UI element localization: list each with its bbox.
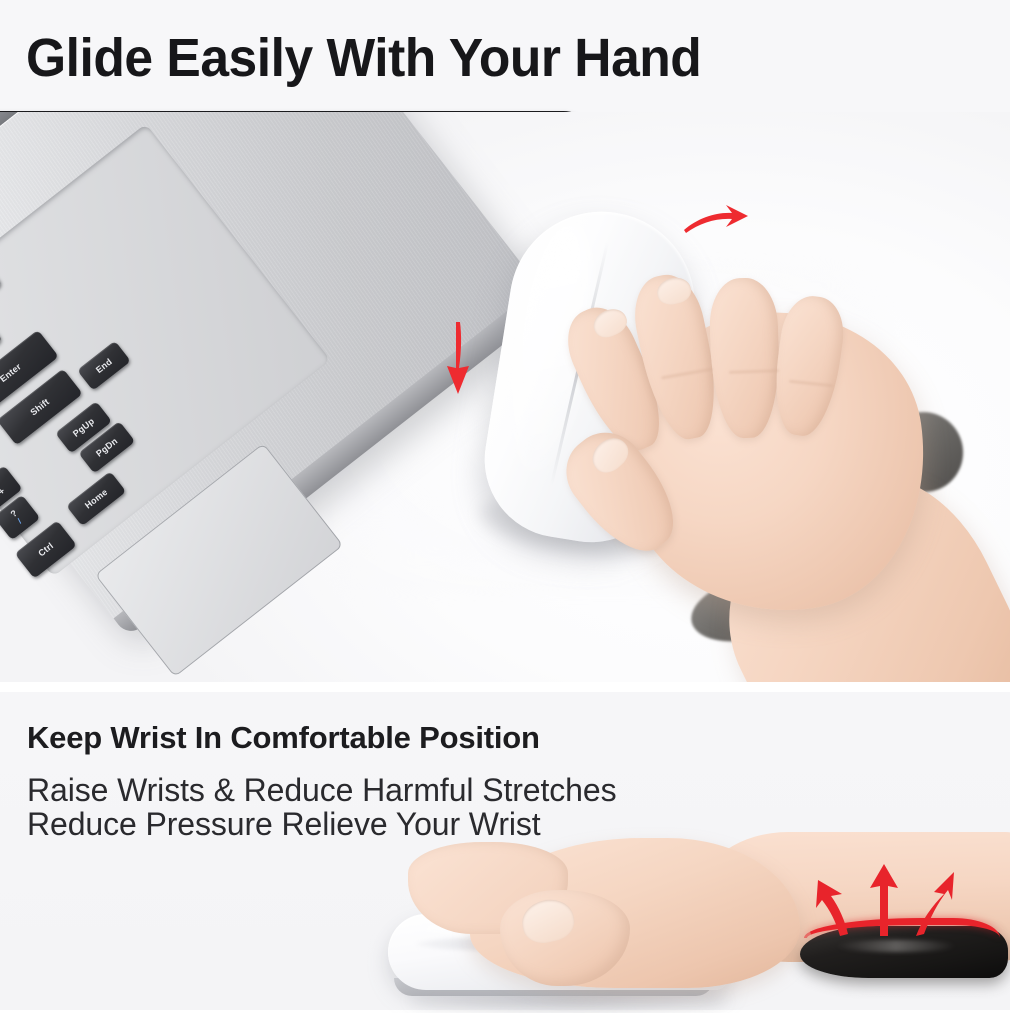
glide-down-arrow — [440, 320, 482, 400]
top-product-photo: Ins Del Backspace } | " — [0, 112, 1010, 682]
laptop-image: Ins Del Backspace } | " — [0, 112, 470, 682]
top-feature-panel: Glide Easily With Your Hand Ergonomic De… — [0, 0, 1010, 682]
hand-image — [565, 252, 995, 682]
lift-arrow-left — [814, 876, 854, 938]
benefit-line-1: Raise Wrists & Reduce Harmful Stretches — [27, 772, 616, 808]
key-end[interactable]: End — [77, 341, 131, 391]
key-home[interactable]: Home — [66, 471, 126, 526]
wrist-rest-sheen — [836, 940, 956, 952]
lift-arrow-right — [912, 868, 956, 938]
benefit-line-2: Reduce Pressure Relieve Your Wrist — [27, 806, 541, 842]
page-title: Glide Easily With Your Hand — [26, 31, 701, 85]
section-heading: Keep Wrist In Comfortable Position — [27, 722, 540, 753]
glide-right-arrow — [682, 200, 752, 246]
panel-divider — [0, 682, 1010, 692]
lift-arrow-center — [868, 862, 902, 938]
key-backspace[interactable]: Backspace — [0, 262, 2, 343]
